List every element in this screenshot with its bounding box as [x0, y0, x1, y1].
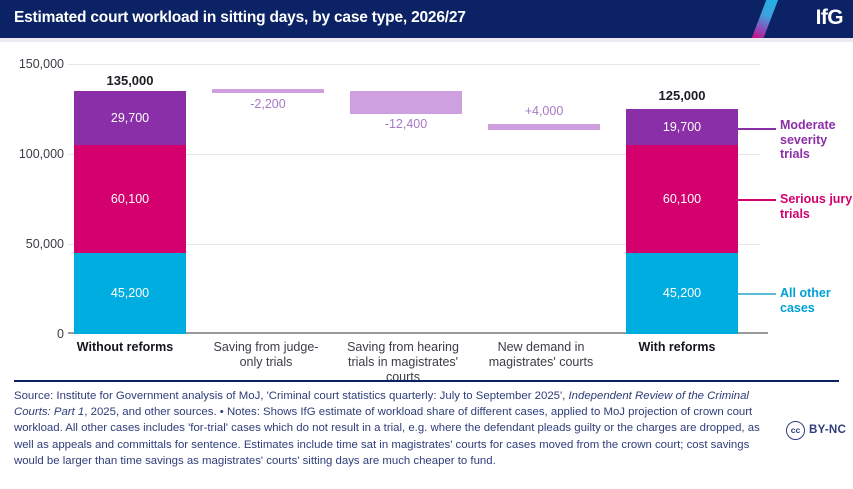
- legend-leader-moderate: [738, 128, 776, 130]
- bar-segment-label-serious-with-reforms: 60,100: [626, 192, 738, 206]
- bar-column-without-reforms[interactable]: 135,000 29,700 60,100 45,200: [74, 64, 186, 334]
- x-axis-label-judge-only: Saving from judge- only trials: [198, 340, 334, 370]
- creative-commons-badge[interactable]: cc BY-NC: [786, 421, 848, 441]
- legend-item-other[interactable]: All other cases: [780, 286, 853, 315]
- bar-step-magistrates-hearing[interactable]: [350, 91, 462, 114]
- x-axis-label-magistrates-hearing-line2: trials in magistrates': [332, 355, 474, 370]
- x-axis-label-new-demand-line2: magistrates' courts: [472, 355, 610, 370]
- bar-segment-label-moderate-without-reforms: 29,700: [74, 111, 186, 125]
- bar-column-with-reforms[interactable]: 125,000 19,700 60,100 45,200: [626, 64, 738, 334]
- bar-segment-serious-with-reforms[interactable]: 60,100: [626, 145, 738, 253]
- legend-label-moderate-line1: Moderate: [780, 118, 853, 133]
- x-axis-label-magistrates-hearing-line3: courts: [332, 370, 474, 385]
- x-axis-label-with-reforms: With reforms: [616, 340, 738, 355]
- bar-step-new-demand[interactable]: [488, 124, 600, 130]
- ifg-slash-icon: [751, 0, 778, 38]
- y-tick-50000: 50,000: [2, 237, 64, 251]
- x-axis-label-judge-only-line1: Saving from judge-: [198, 340, 334, 355]
- x-axis-label-judge-only-line2: only trials: [198, 355, 334, 370]
- legend-item-moderate[interactable]: Moderate severity trials: [780, 118, 853, 162]
- bar-step-label-magistrates-hearing: -12,400: [350, 117, 462, 131]
- x-axis-label-new-demand-line1: New demand in: [472, 340, 610, 355]
- page-title: Estimated court workload in sitting days…: [14, 9, 466, 27]
- bar-step-ghost-label-magistrates-hearing: 131,000: [350, 219, 462, 233]
- bar-segment-label-other-without-reforms: 45,200: [74, 286, 186, 300]
- plot-area: 135,000 29,700 60,100 45,200 -2,200 132,…: [68, 64, 760, 334]
- legend-label-other-line2: cases: [780, 301, 853, 316]
- ifg-logo-text: IfG: [816, 6, 843, 30]
- header-bar: Estimated court workload in sitting days…: [0, 0, 853, 38]
- legend-label-moderate-line2: severity: [780, 133, 853, 148]
- bar-step-ghost-label-judge-only: 132,800: [212, 214, 324, 228]
- x-axis-label-new-demand: New demand in magistrates' courts: [472, 340, 610, 370]
- legend-label-moderate-line3: trials: [780, 147, 853, 162]
- bar-segment-other-with-reforms[interactable]: 45,200: [626, 253, 738, 334]
- bar-column-judge-only-saving[interactable]: -2,200 132,800: [212, 64, 324, 334]
- footer-source-note: Source: Institute for Government analysi…: [14, 388, 774, 469]
- legend-leader-other: [738, 293, 776, 295]
- x-axis-label-without-reforms-line1: Without reforms: [64, 340, 186, 355]
- cc-license-label: BY-NC: [809, 423, 846, 436]
- x-axis-label-with-reforms-line1: With reforms: [616, 340, 738, 355]
- legend-label-other-line1: All other: [780, 286, 853, 301]
- y-tick-0: 0: [2, 327, 64, 341]
- footer-divider: [14, 380, 839, 382]
- chart-area: 150,000 100,000 50,000 0 135,000 29,700 …: [0, 42, 853, 372]
- bar-segment-serious-without-reforms[interactable]: 60,100: [74, 145, 186, 253]
- bar-segment-label-moderate-with-reforms: 19,700: [626, 120, 738, 134]
- cc-icon: cc: [786, 421, 805, 440]
- x-axis-label-magistrates-hearing-line1: Saving from hearing: [332, 340, 474, 355]
- bar-segment-other-without-reforms[interactable]: 45,200: [74, 253, 186, 334]
- bar-total-without-reforms: 135,000: [74, 73, 186, 88]
- bar-segment-moderate-without-reforms[interactable]: 29,700: [74, 91, 186, 145]
- y-tick-150000: 150,000: [2, 57, 64, 71]
- legend-leader-serious: [738, 199, 776, 201]
- bar-step-judge-only[interactable]: [212, 89, 324, 93]
- y-tick-100000: 100,000: [2, 147, 64, 161]
- bar-step-label-judge-only: -2,200: [212, 97, 324, 111]
- ifg-logo: IfG: [753, 0, 853, 38]
- bar-total-with-reforms: 125,000: [626, 88, 738, 103]
- bar-segment-moderate-with-reforms[interactable]: 19,700: [626, 109, 738, 145]
- bar-segment-label-other-with-reforms: 45,200: [626, 286, 738, 300]
- x-axis-label-without-reforms: Without reforms: [64, 340, 186, 355]
- bar-column-new-demand[interactable]: +4,000 124,400: [488, 64, 600, 334]
- bar-step-label-new-demand: +4,000: [488, 104, 600, 118]
- footer-source-text-part1: Source: Institute for Government analysi…: [14, 390, 569, 402]
- legend-label-serious-line2: trials: [780, 207, 853, 222]
- bar-segment-label-serious-without-reforms: 60,100: [74, 192, 186, 206]
- footer-source-text-part2: , 2025, and other sources. • Notes: Show…: [14, 406, 760, 467]
- legend-item-serious[interactable]: Serious jury trials: [780, 192, 853, 221]
- bar-step-ghost-label-new-demand: 124,400: [488, 219, 600, 233]
- bar-column-magistrates-hearing-saving[interactable]: -12,400 131,000: [350, 64, 462, 334]
- x-axis-label-magistrates-hearing: Saving from hearing trials in magistrate…: [332, 340, 474, 385]
- legend-label-serious-line1: Serious jury: [780, 192, 853, 207]
